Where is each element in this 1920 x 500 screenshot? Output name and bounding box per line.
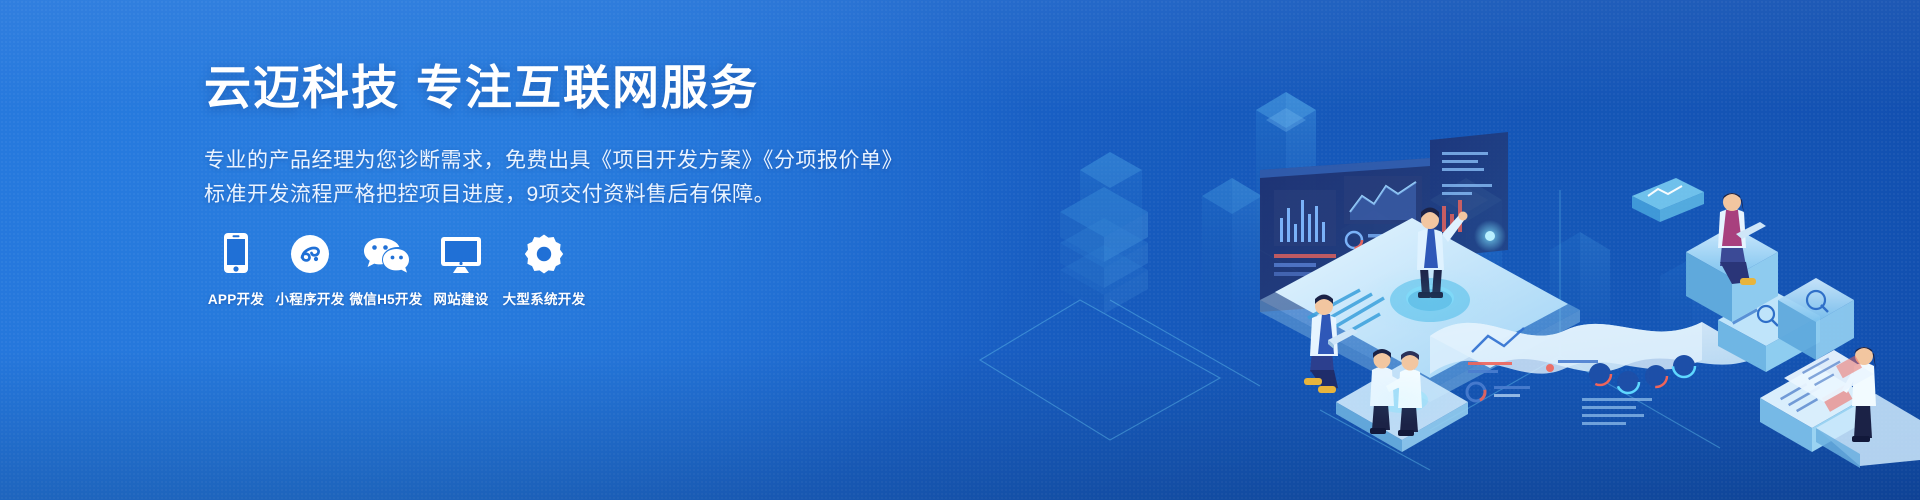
title-part-1: 云迈科技 xyxy=(204,61,400,114)
subtitle-line-1: 专业的产品经理为您诊断需求，免费出具《项目开发方案》《分项报价单》 xyxy=(204,144,904,177)
mobile-phone-icon xyxy=(223,228,249,274)
hero-subtitle: 专业的产品经理为您诊断需求，免费出具《项目开发方案》《分项报价单》 标准开发流程… xyxy=(204,144,904,211)
title-part-2: 专注互联网服务 xyxy=(416,61,759,114)
hero-banner: 云迈科技专注互联网服务 专业的产品经理为您诊断需求，免费出具《项目开发方案》《分… xyxy=(0,0,1920,500)
mini-program-icon xyxy=(290,228,330,274)
wechat-icon xyxy=(363,228,409,274)
service-item-miniprogram[interactable]: 小程序开发 xyxy=(272,228,348,308)
service-list: APP开发 小程序开发 xyxy=(200,228,590,308)
monitor-icon xyxy=(440,228,482,274)
service-item-website[interactable]: 网站建设 xyxy=(424,228,498,308)
gear-icon xyxy=(524,228,564,274)
service-label: 小程序开发 xyxy=(276,288,345,308)
service-item-app[interactable]: APP开发 xyxy=(200,228,272,308)
service-label: APP开发 xyxy=(208,288,264,308)
stacked-cubes xyxy=(1060,187,1148,314)
service-label: 网站建设 xyxy=(433,288,488,308)
service-label: 大型系统开发 xyxy=(503,288,586,308)
hero-copy: 云迈科技专注互联网服务 专业的产品经理为您诊断需求，免费出具《项目开发方案》《分… xyxy=(204,62,904,212)
service-item-large-system[interactable]: 大型系统开发 xyxy=(498,228,590,308)
isometric-tech-illustration xyxy=(960,0,1920,500)
page-title: 云迈科技专注互联网服务 xyxy=(204,62,904,114)
service-item-wechat-h5[interactable]: 微信H5开发 xyxy=(348,228,424,308)
floating-card-chart xyxy=(1632,178,1704,222)
service-label: 微信H5开发 xyxy=(349,288,422,308)
subtitle-line-2: 标准开发流程严格把控项目进度，9项交付资料售后有保障。 xyxy=(204,178,904,211)
